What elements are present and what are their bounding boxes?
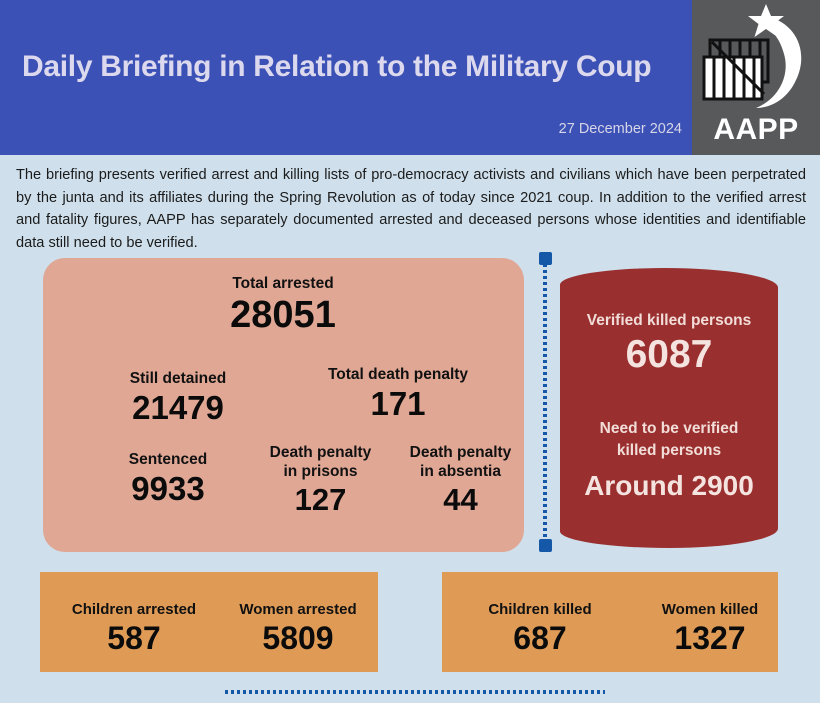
stat-value: 587 [48,619,220,657]
stat-label: Children arrested [48,600,220,619]
stat-value: 28051 [153,294,413,336]
stat-value: 21479 [83,389,273,427]
stat-value: 9933 [78,470,258,508]
stat-label: Total arrested [153,274,413,293]
stat-label: Women arrested [212,600,384,619]
stat-women-arrested: Women arrested 5809 [212,600,384,657]
stat-value: 5809 [212,619,384,657]
stat-children-killed: Children killed 687 [456,600,624,657]
divider-handle-top[interactable] [539,252,552,265]
stat-total-death-penalty: Total death penalty 171 [293,365,503,423]
stat-value: 687 [456,619,624,657]
aapp-logo-graphic [696,2,816,112]
vertical-dotted-divider [543,258,547,546]
stat-value: 44 [378,482,543,518]
stat-value: 1327 [626,619,794,657]
killed-statistics-blob: Verified killed persons 6087 Need to be … [560,268,778,548]
stat-still-detained: Still detained 21479 [83,369,273,427]
logo-wordmark: AAPP [692,113,820,147]
stat-value: 171 [293,385,503,423]
stat-label: Women killed [626,600,794,619]
blob-content: Verified killed persons 6087 Need to be … [560,268,778,548]
stat-label: Sentenced [78,450,258,469]
stat-label: Verified killed persons [560,310,778,332]
stat-total-arrested: Total arrested 28051 [153,274,413,336]
header-banner: Daily Briefing in Relation to the Milita… [0,0,820,155]
stat-verified-killed-persons: Verified killed persons 6087 [560,310,778,378]
intro-paragraph: The briefing presents verified arrest an… [16,164,806,254]
stat-label: Children killed [456,600,624,619]
stat-label: Death penalty in absentia [378,443,543,481]
killed-demographics-box: Children killed 687 Women killed 1327 [442,572,778,672]
stat-need-to-be-verified-killed-persons: Need to be verified killed persons Aroun… [560,418,778,506]
stat-label: Still detained [83,369,273,388]
horizontal-dotted-divider [225,690,605,694]
stat-death-penalty-in-absentia: Death penalty in absentia 44 [378,443,543,518]
stat-women-killed: Women killed 1327 [626,600,794,657]
briefing-date: 27 December 2024 [559,121,682,137]
stat-value: 6087 [560,332,778,378]
divider-handle-bottom[interactable] [539,539,552,552]
arrested-demographics-box: Children arrested 587 Women arrested 580… [40,572,378,672]
stat-sentenced: Sentenced 9933 [78,450,258,508]
page-title: Daily Briefing in Relation to the Milita… [22,48,682,86]
stat-children-arrested: Children arrested 587 [48,600,220,657]
logo-panel: AAPP [692,0,820,155]
arrest-statistics-card: Total arrested 28051 Still detained 2147… [43,258,524,552]
stat-label: Need to be verified killed persons [560,418,778,462]
prison-window-icon [704,40,768,99]
infographic-page: Daily Briefing in Relation to the Milita… [0,0,820,703]
stat-value: Around 2900 [560,466,778,506]
stat-label: Total death penalty [293,365,503,384]
